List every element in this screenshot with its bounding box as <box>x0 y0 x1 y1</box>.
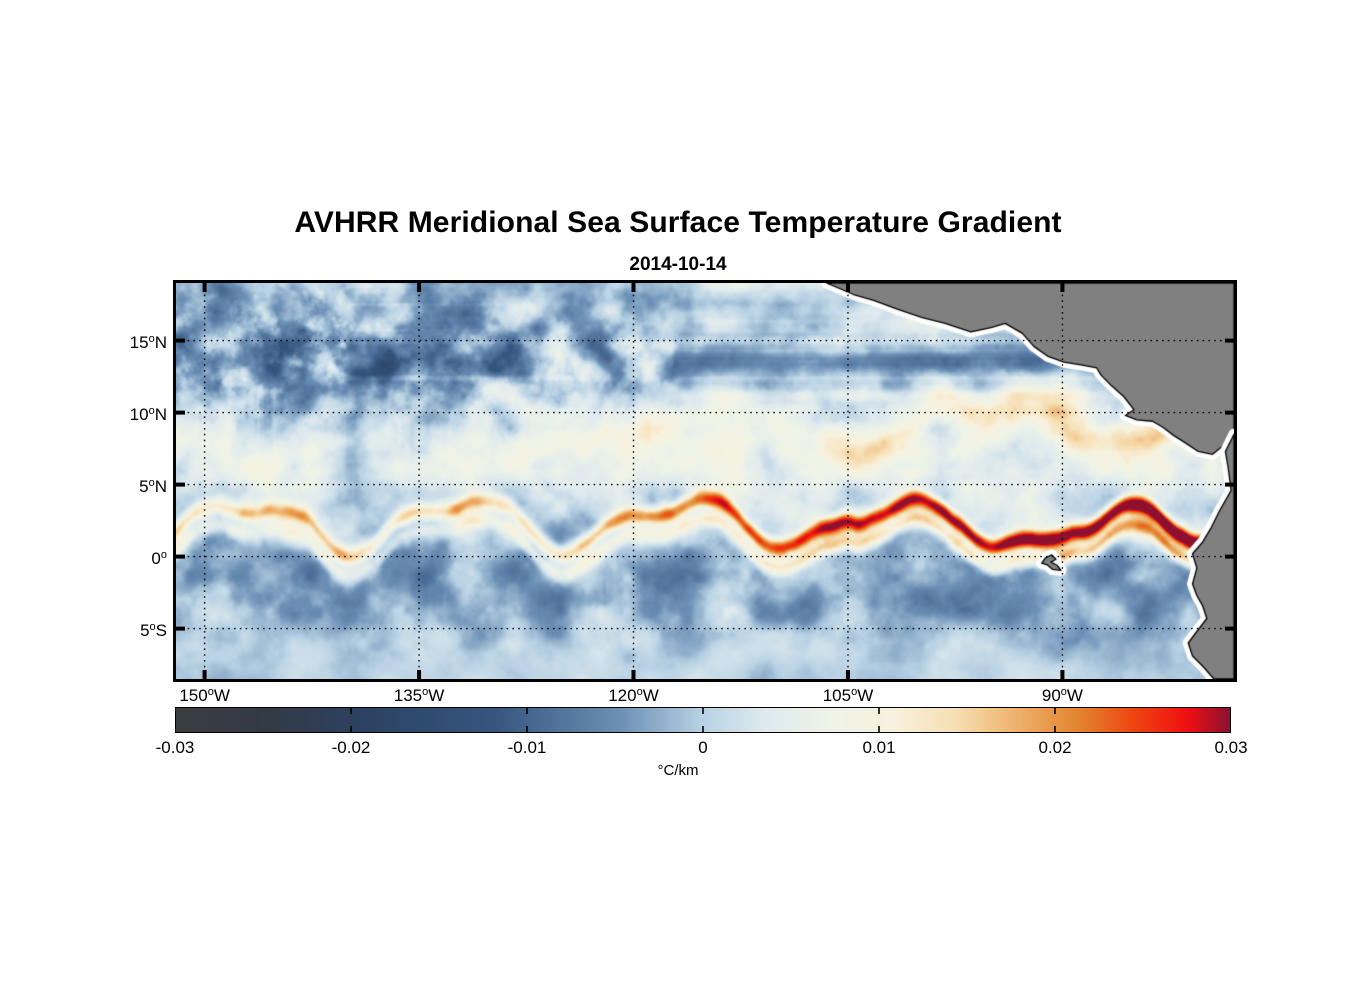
colorbar-tick-_0_03: -0.03 <box>156 739 195 756</box>
colorbar[interactable] <box>175 707 1231 733</box>
colorbar-tick-0: 0 <box>698 739 707 756</box>
y-tick-label-0: 0o <box>151 547 167 567</box>
page-title: AVHRR Meridional Sea Surface Temperature… <box>0 205 1356 241</box>
x-tick-label-120W: 120oW <box>608 684 659 704</box>
colorbar-unit-label: °C/km <box>0 762 1356 779</box>
y-tick-label-5S: 5oS <box>140 619 167 639</box>
colorbar-tick-_0_02: -0.02 <box>332 739 371 756</box>
colorbar-gradient[interactable] <box>175 707 1231 733</box>
y-tick-label-10N: 10oN <box>130 403 167 423</box>
x-tick-label-105W: 105oW <box>823 684 874 704</box>
colorbar-tick-_0_01: -0.01 <box>508 739 547 756</box>
figure-root: AVHRR Meridional Sea Surface Temperature… <box>0 0 1356 1000</box>
sst-gradient-heatmap[interactable] <box>176 283 1234 679</box>
chart-subtitle-date: 2014-10-14 <box>0 254 1356 276</box>
y-tick-label-5N: 5oN <box>139 475 167 495</box>
x-tick-label-90W: 90oW <box>1042 684 1083 704</box>
x-tick-label-135W: 135oW <box>394 684 445 704</box>
x-tick-label-150W: 150oW <box>179 684 230 704</box>
map-axes[interactable] <box>173 280 1237 682</box>
y-tick-label-15N: 15oN <box>130 331 167 351</box>
colorbar-tick-0_03: 0.03 <box>1214 739 1247 756</box>
colorbar-tick-0_01: 0.01 <box>862 739 895 756</box>
colorbar-tick-0_02: 0.02 <box>1038 739 1071 756</box>
